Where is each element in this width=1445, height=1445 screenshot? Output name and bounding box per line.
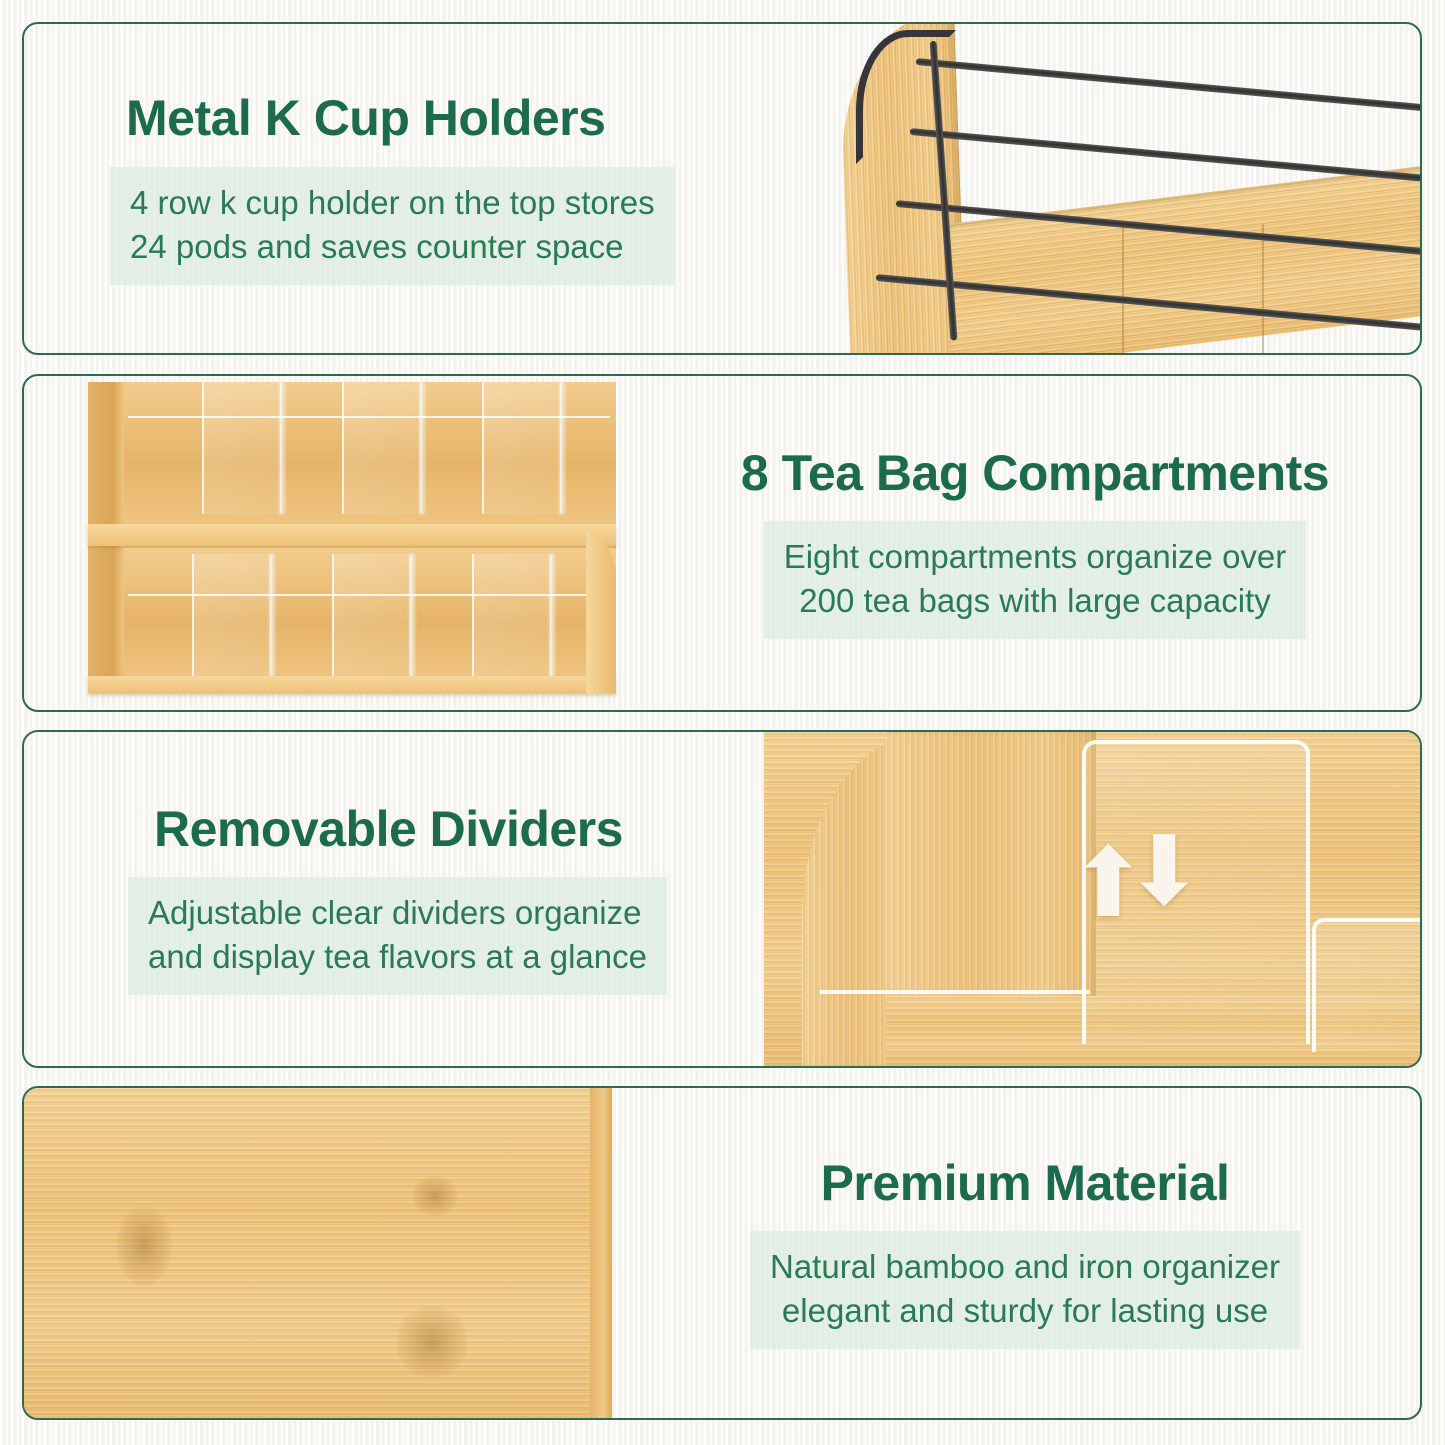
panel-2-text: 8 Tea Bag Compartments Eight compartment… [650,376,1420,710]
panel-1-subtext: 4 row k cup holder on the top stores 24 … [110,167,675,285]
feature-panel-premium-material: Premium Material Natural bamboo and iron… [22,1086,1422,1420]
bamboo-knot [412,1176,458,1216]
panel-2-headline: 8 Tea Bag Compartments [650,447,1420,500]
panel-2-subtext: Eight compartments organize over 200 tea… [764,521,1307,639]
panel-1-subtext-line-2: 24 pods and saves counter space [130,225,655,269]
panel-3-headline: Removable Dividers [24,803,784,856]
feature-panel-metal-k-cup-holders: Metal K Cup Holders 4 row k cup holder o… [22,22,1422,355]
panel-4-subtext-line-2: elegant and sturdy for lasting use [770,1289,1280,1333]
bamboo-board-surface [24,1088,590,1418]
organizer-middle-rail [88,524,616,546]
upper-divider-pane-3 [482,382,562,514]
bamboo-board-edge [590,1088,612,1418]
panel-3-subtext: Adjustable clear dividers organize and d… [128,877,667,995]
bamboo-knot [396,1306,468,1378]
panel-4-subtext-line-1: Natural bamboo and iron organizer [770,1245,1280,1289]
upper-glass-front-edge [128,416,610,418]
panel-1-subtext-line-1: 4 row k cup holder on the top stores [130,181,655,225]
lower-divider-pane-3 [472,554,552,676]
tea-organizer-photo [42,376,642,710]
bamboo-board-photo [24,1088,612,1418]
bamboo-shelf-seam [1122,224,1124,355]
panel-4-text: Premium Material Natural bamboo and iron… [630,1088,1420,1418]
upper-divider-2[interactable] [420,382,424,514]
lower-divider-1[interactable] [270,554,274,676]
panel-4-subtext: Natural bamboo and iron organizer elegan… [750,1231,1300,1349]
panel-1-text: Metal K Cup Holders 4 row k cup holder o… [24,24,824,353]
lower-divider-3[interactable] [550,554,554,676]
panel-2-subtext-line-2: 200 tea bags with large capacity [784,579,1287,623]
divider-base-rail [820,990,1090,994]
upper-divider-pane-1 [202,382,282,514]
feature-panel-tea-bag-compartments: 8 Tea Bag Compartments Eight compartment… [22,374,1422,712]
panel-2-subtext-line-1: Eight compartments organize over [784,535,1287,579]
lower-divider-2[interactable] [410,554,414,676]
panel-1-headline: Metal K Cup Holders [24,92,824,145]
product-feature-infographic: Metal K Cup Holders 4 row k cup holder o… [0,0,1445,1445]
bamboo-top-shelf [950,163,1422,355]
lower-glass-front-edge [128,594,610,596]
metal-rail-1 [916,58,1422,113]
feature-panel-removable-dividers: ⬆ ⬇ Removable Dividers Adjustable clear … [22,730,1422,1068]
clear-divider-secondary[interactable] [1312,918,1422,1052]
upper-divider-1[interactable] [280,382,284,514]
upper-divider-3[interactable] [560,382,564,514]
removable-divider-photo: ⬆ ⬇ [764,732,1422,1066]
kcup-holder-photo [832,24,1422,353]
arrow-down-icon: ⬇ [1124,824,1204,920]
organizer-right-curve [586,532,616,694]
bamboo-shelf-seam [1262,224,1264,355]
panel-3-subtext-line-1: Adjustable clear dividers organize [148,891,647,935]
bamboo-knot [116,1206,172,1286]
panel-4-headline: Premium Material [630,1157,1420,1210]
organizer-bottom-rail [88,676,616,694]
upper-divider-pane-2 [342,382,422,514]
lower-divider-pane-2 [332,554,412,676]
panel-3-text: Removable Dividers Adjustable clear divi… [24,732,784,1066]
metal-rail-corner-arc [856,30,956,164]
lower-divider-pane-1 [192,554,272,676]
panel-3-subtext-line-2: and display tea flavors at a glance [148,935,647,979]
